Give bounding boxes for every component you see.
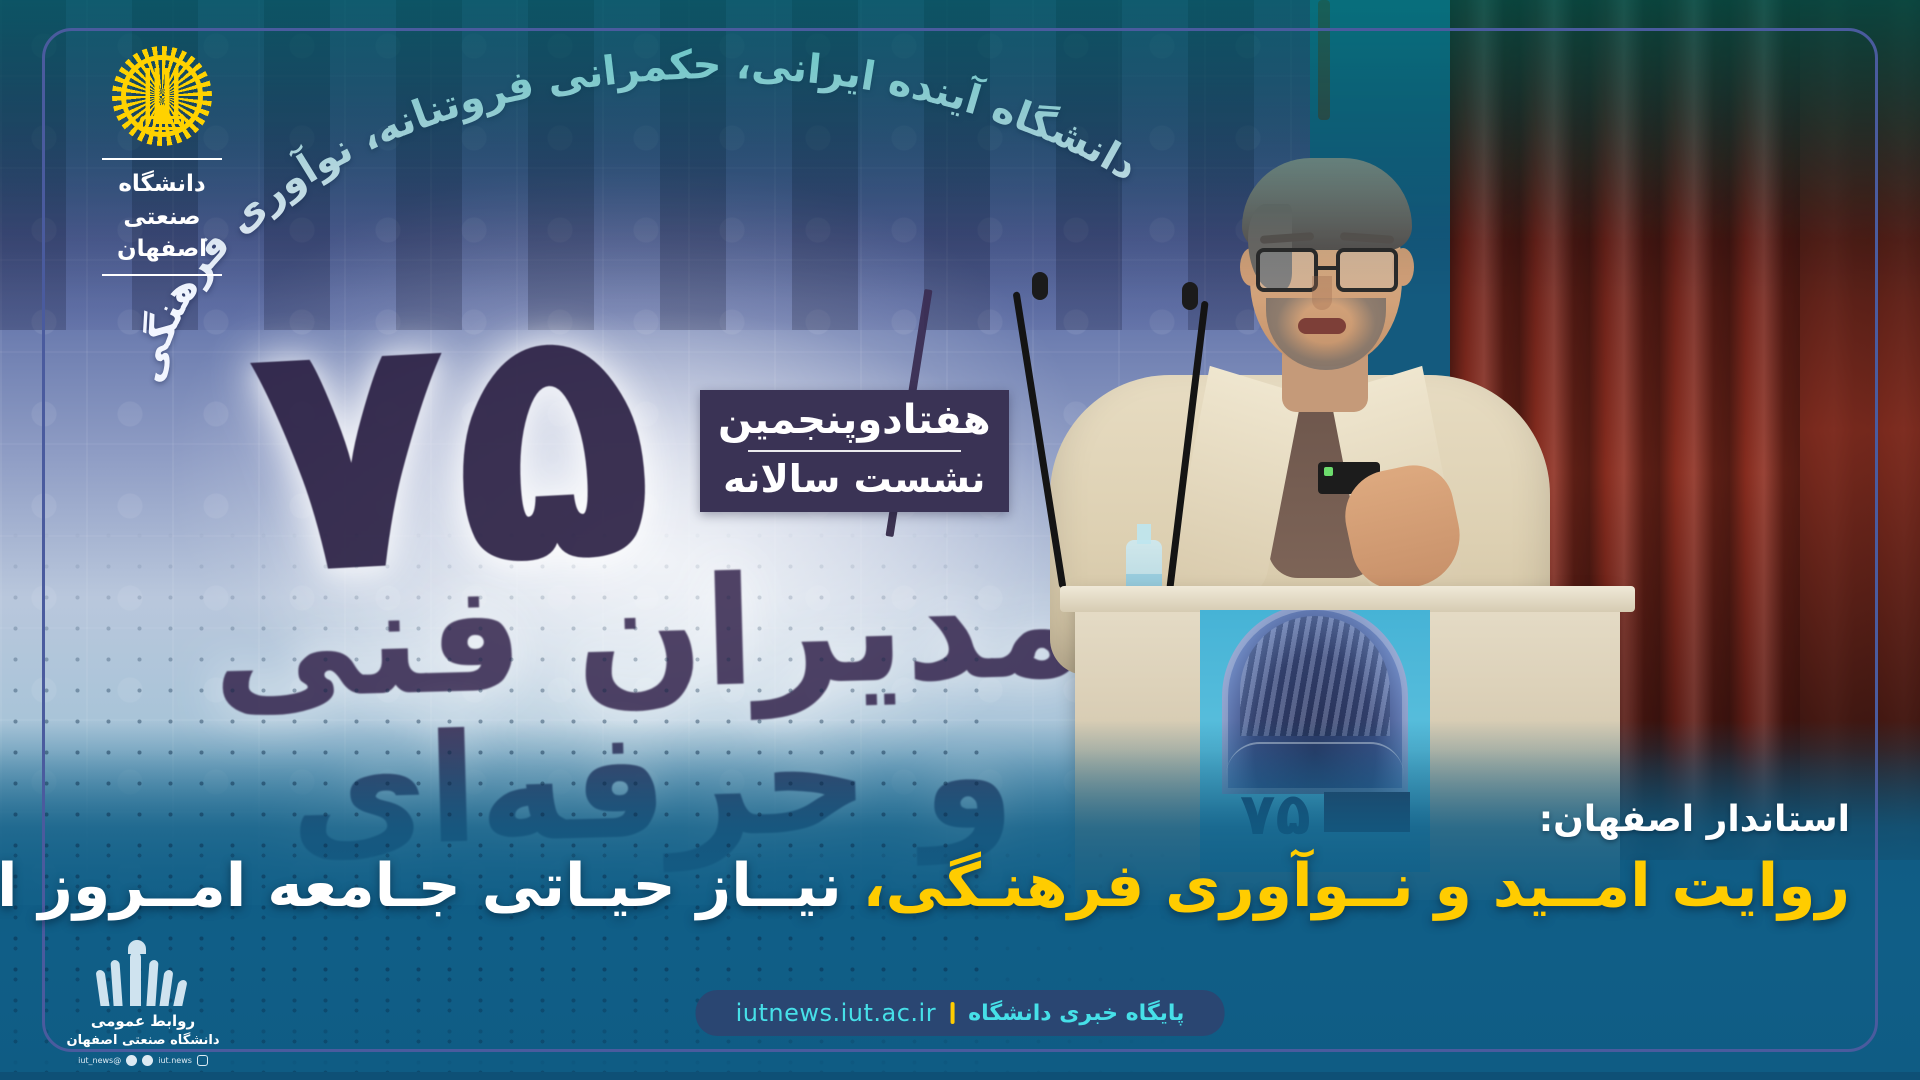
- banner-canvas: دانشگاه آینده ایرانی، حکمرانی فروتنانه، …: [0, 0, 1920, 1080]
- building-column: [95, 970, 109, 1006]
- telegram-handle: @iut_news: [78, 1056, 121, 1065]
- building-column: [173, 980, 188, 1006]
- top-teal-glow: [0, 0, 1920, 240]
- seal-base-mark: [140, 116, 184, 130]
- pr-label-line1: روابط عمومی: [58, 1012, 228, 1030]
- instagram-icon[interactable]: [197, 1055, 208, 1066]
- university-name-line1: دانشگاه: [62, 168, 262, 201]
- public-relations-building-icon: [58, 950, 228, 1006]
- meeting-title-box: هفتادوپنجمین نشست سالانه: [700, 390, 1009, 512]
- meeting-title-line2: نشست سالانه: [718, 458, 991, 501]
- podium-top-surface: [1060, 586, 1635, 612]
- iut-seal-icon: [112, 46, 212, 146]
- logo-divider-top: [102, 158, 222, 160]
- telegram-icon[interactable]: [142, 1055, 153, 1066]
- university-name-line2: صنعتی: [62, 201, 262, 234]
- university-name-line3: اصفهان: [62, 233, 262, 266]
- whatsapp-icon[interactable]: [126, 1055, 137, 1066]
- footer-site-label: پایگاه خبری دانشگاه: [968, 1001, 1184, 1026]
- headline-part-yellow: روایت امــید و نــوآوری فرهنـگی،: [863, 851, 1850, 921]
- meeting-title-divider: [748, 450, 961, 452]
- headline-block: استاندار اصفهان: روایت امــید و نــوآوری…: [0, 799, 1850, 925]
- speaker-mouth: [1298, 318, 1346, 334]
- building-column: [146, 960, 158, 1006]
- bottom-bar: [0, 1072, 1920, 1080]
- pr-label-line2: دانشگاه صنعتی اصفهان: [58, 1033, 228, 1048]
- building-column: [159, 970, 173, 1006]
- public-relations-logo: روابط عمومی دانشگاه صنعتی اصفهان iut.new…: [58, 950, 228, 1066]
- instagram-handle: iut.news: [158, 1056, 192, 1065]
- footer-site-pill[interactable]: پایگاه خبری دانشگاه iutnews.iut.ac.ir: [696, 990, 1225, 1036]
- university-logo: دانشگاه صنعتی اصفهان: [62, 46, 262, 276]
- building-column: [110, 960, 122, 1006]
- headline-part-white: نیــاز حیـاتی جـامعه امــروز است: [0, 851, 863, 921]
- building-column: [130, 952, 141, 1006]
- footer-url[interactable]: iutnews.iut.ac.ir: [736, 999, 937, 1027]
- headline-title: روایت امــید و نــوآوری فرهنـگی، نیــاز …: [0, 848, 1850, 925]
- logo-divider-bottom: [102, 274, 222, 276]
- meeting-title-line1: هفتادوپنجمین: [718, 398, 991, 443]
- headline-kicker: استاندار اصفهان:: [0, 799, 1850, 840]
- social-handles: iut.news @iut_news: [58, 1055, 228, 1066]
- footer-divider: [950, 1002, 954, 1024]
